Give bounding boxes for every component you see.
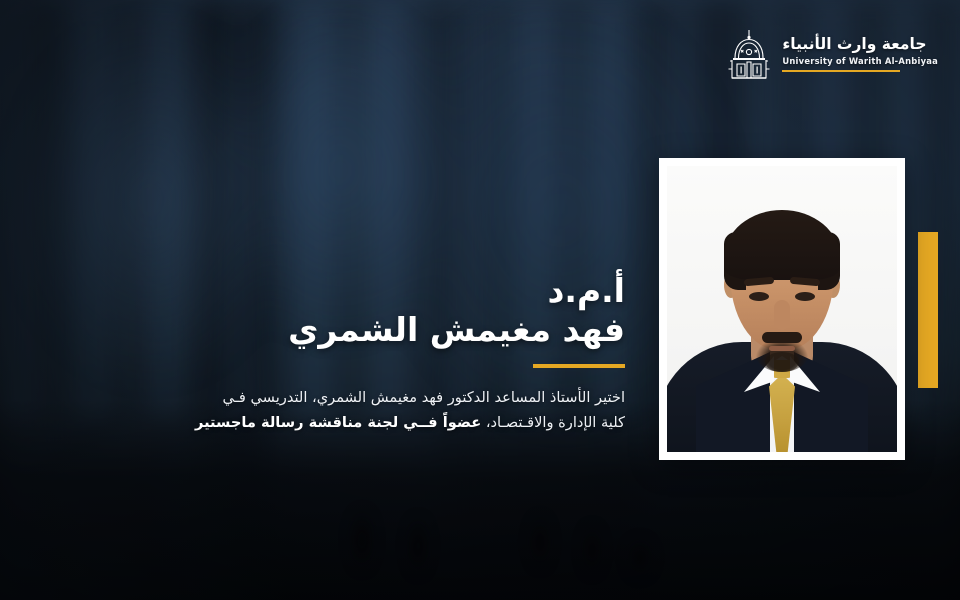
university-name-arabic: جامعة وارث الأنبياء — [782, 36, 926, 54]
page-title-line-2: فهد مغيمش الشمري — [10, 311, 625, 350]
announcement-body: اختير الأستاذ المساعد الدكتور فهد مغيمش … — [10, 385, 625, 435]
page-title-line-1: أ.م.د — [10, 272, 625, 311]
portrait-eye-left — [749, 292, 769, 301]
title-gold-divider — [533, 364, 625, 368]
portrait-gold-accent-bar — [918, 232, 938, 388]
announcement-poster: جامعة وارث الأنبياء University of Warith… — [0, 0, 960, 600]
brand-gold-underline — [782, 70, 900, 72]
portrait-photo — [667, 166, 897, 452]
portrait-mouth — [769, 346, 795, 351]
portrait-eye-right — [795, 292, 815, 301]
university-brand-lockup: جامعة وارث الأنبياء University of Warith… — [726, 28, 938, 80]
body-line-2-emphasis: عضواً فــي لجنة مناقشة رسالة ماجستير — [195, 414, 481, 431]
portrait-photo-frame — [659, 158, 905, 460]
body-line-1: اختير الأستاذ المساعد الدكتور فهد مغيمش … — [10, 385, 625, 410]
university-name-english: University of Warith Al-Anbiyaa — [782, 56, 938, 66]
announcement-copy: أ.م.د فهد مغيمش الشمري اختير الأستاذ الم… — [10, 272, 625, 435]
portrait-chin-beard — [765, 352, 799, 372]
portrait-moustache — [762, 332, 802, 343]
shrine-dome-emblem-icon — [726, 28, 772, 80]
body-line-2: كلية الإدارة والاقـتصـاد، عضواً فــي لجن… — [10, 410, 625, 435]
body-line-2-prefix: كلية الإدارة والاقـتصـاد، — [481, 414, 625, 431]
portrait-nose — [774, 300, 790, 330]
brand-text-group: جامعة وارث الأنبياء University of Warith… — [782, 36, 938, 72]
